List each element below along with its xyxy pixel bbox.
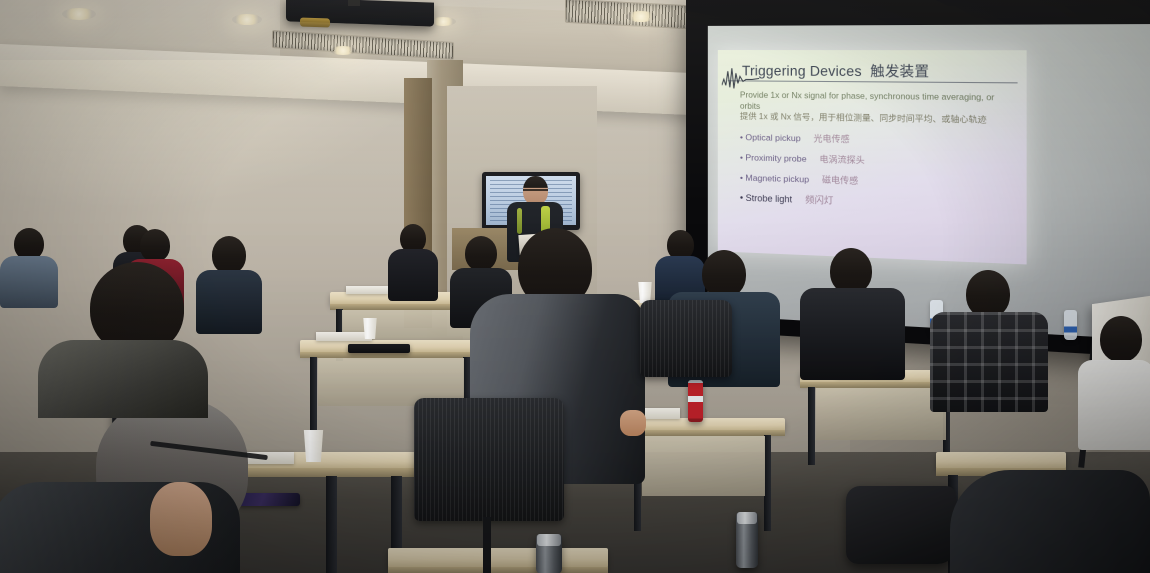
chair-back xyxy=(414,398,564,521)
bullet-label-cn: 电涡流探头 xyxy=(819,153,864,164)
slide-bullet-strobe-light: • Strobe light 频闪灯 xyxy=(740,192,1018,212)
desk-leg xyxy=(326,476,337,573)
notebook xyxy=(348,344,410,353)
bullet-label-en: Strobe light xyxy=(746,192,793,204)
attendee-head xyxy=(140,229,170,262)
water-bottle xyxy=(1064,310,1077,340)
bullet-label-cn: 频闪灯 xyxy=(805,194,833,205)
slide-bullet-optical-pickup: • Optical pickup 光电传感 xyxy=(740,131,1018,148)
slide-bullet-main: Provide 1x or Nx signal for phase, synch… xyxy=(740,90,1018,126)
office-chair xyxy=(640,300,732,410)
office-chair xyxy=(414,398,564,573)
projector-lens-icon xyxy=(300,17,330,27)
slide-bullet-main-cn: 提供 1x 或 Nx 信号，用于相位测量、同步时间平均、或轴心轨迹 xyxy=(740,112,1018,127)
thermos-lid xyxy=(737,512,757,524)
slide-title-cn: 触发装置 xyxy=(870,64,929,80)
desk-leg xyxy=(764,435,771,531)
desk-modesty-panel xyxy=(816,388,946,440)
attendee xyxy=(950,470,1150,573)
slide-title: Triggering Devices触发装置 xyxy=(742,59,929,81)
attendee-torso xyxy=(800,288,905,380)
projector-mount xyxy=(348,0,360,6)
attendee xyxy=(1092,316,1150,446)
attendee-head xyxy=(702,250,746,298)
chair-back xyxy=(640,300,732,377)
attendee xyxy=(800,248,905,378)
desk-modesty-panel xyxy=(642,436,765,496)
slide-title-rule xyxy=(728,80,1018,83)
bullet-label-en: Magnetic pickup xyxy=(745,172,809,184)
ceiling-downlight xyxy=(62,8,96,20)
waveform-icon xyxy=(722,65,760,90)
glasses-icon xyxy=(523,189,548,196)
ceiling-downlight xyxy=(626,11,656,22)
slide-bullet-proximity-probe: • Proximity probe 电涡流探头 xyxy=(740,152,1018,170)
ceiling-light-wash xyxy=(0,60,430,210)
attendee xyxy=(388,224,438,300)
attendee-torso xyxy=(388,249,438,301)
slide-bullet-main-en: Provide 1x or Nx signal for phase, synch… xyxy=(740,90,994,110)
desk-top xyxy=(936,452,1066,469)
ceiling-downlight xyxy=(232,14,262,25)
desk-leg xyxy=(310,357,317,431)
attendee-head xyxy=(212,236,246,274)
paper-sheet xyxy=(316,332,372,341)
bullet-label-en: Optical pickup xyxy=(745,132,800,143)
desk-leg xyxy=(808,387,815,465)
thermos-flask xyxy=(736,512,758,568)
attendee-torso xyxy=(38,340,208,418)
presentation-slide: Triggering Devices触发装置 Provide 1x or Nx … xyxy=(718,50,1027,264)
backpack xyxy=(846,486,956,564)
attendee xyxy=(930,270,1048,410)
attendee-head xyxy=(1100,316,1142,362)
slide-body: Provide 1x or Nx signal for phase, synch… xyxy=(740,90,1018,212)
bullet-label-en: Proximity probe xyxy=(745,152,806,164)
ceiling-downlight xyxy=(330,46,356,55)
attendee-head xyxy=(966,270,1010,318)
chair-post xyxy=(483,517,491,573)
paper-sheet xyxy=(346,286,388,294)
attendee-face xyxy=(150,482,212,556)
attendee-hand xyxy=(620,410,646,436)
classroom-photo-scene: Triggering Devices触发装置 Provide 1x or Nx … xyxy=(0,0,1150,573)
attendee-torso-white-shirt xyxy=(1078,360,1150,450)
bullet-label-cn: 光电传感 xyxy=(814,133,850,144)
attendee-torso-plaid xyxy=(930,312,1048,412)
attendee-torso xyxy=(950,470,1150,573)
slide-bullet-magnetic-pickup: • Magnetic pickup 磁电传感 xyxy=(740,172,1018,191)
attendee xyxy=(38,262,208,412)
bullet-label-cn: 磁电传感 xyxy=(822,174,858,185)
